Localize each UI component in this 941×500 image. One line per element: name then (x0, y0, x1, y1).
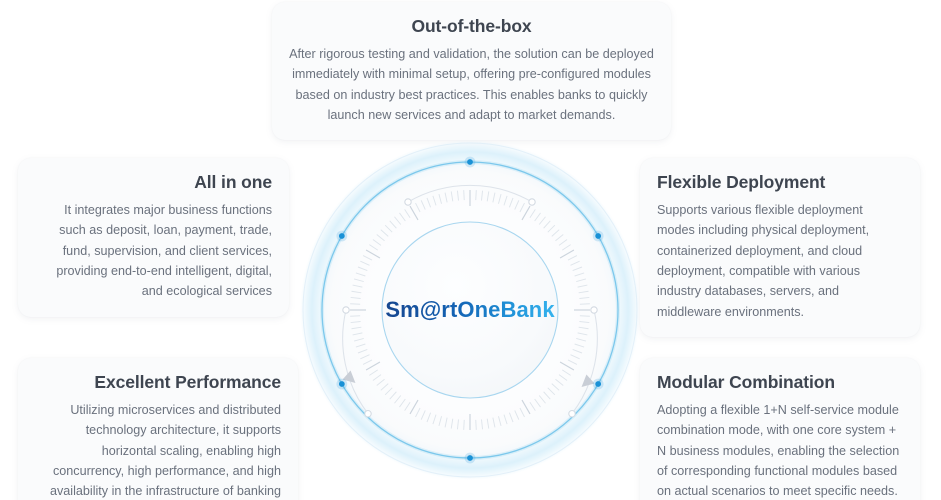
arc-endpoint (569, 411, 575, 417)
tick-minor (476, 420, 477, 430)
arc-endpoint (529, 199, 535, 205)
arc-endpoint (591, 307, 597, 313)
feature-title: Out-of-the-box (289, 15, 654, 38)
tick-minor (464, 190, 465, 200)
node-dot[interactable] (339, 381, 345, 387)
feature-title: Modular Combination (657, 371, 903, 394)
core-disc (382, 222, 558, 398)
tick-minor (476, 190, 477, 200)
tick-minor (580, 304, 590, 305)
arc-endpoint (405, 199, 411, 205)
tick-minor (464, 420, 465, 430)
arc-endpoint (365, 411, 371, 417)
tick-minor (350, 304, 360, 305)
tick-minor (580, 316, 590, 317)
hub-rings-svg (300, 140, 640, 480)
node-dot[interactable] (467, 455, 473, 461)
feature-description: Utilizing microservices and distributed … (35, 400, 281, 500)
feature-description: It integrates major business functions s… (35, 200, 272, 302)
feature-description: Adopting a flexible 1+N self-service mod… (657, 400, 903, 500)
tick-minor (350, 316, 360, 317)
node-dot[interactable] (339, 233, 345, 239)
feature-title: Flexible Deployment (657, 171, 903, 194)
node-dot[interactable] (595, 381, 601, 387)
feature-card-out-of-the-box[interactable]: Out-of-the-box After rigorous testing an… (272, 2, 671, 140)
arc-endpoint (343, 307, 349, 313)
feature-title: All in one (35, 171, 272, 194)
feature-description: Supports various flexible deployment mod… (657, 200, 903, 322)
node-dot[interactable] (595, 233, 601, 239)
feature-card-all-in-one[interactable]: All in one It integrates major business … (18, 158, 289, 317)
product-hub-diagram: Sm@rtOneBank (300, 140, 640, 480)
feature-title: Excellent Performance (35, 371, 281, 394)
feature-card-excellent-performance[interactable]: Excellent Performance Utilizing microser… (18, 358, 298, 500)
node-dot[interactable] (467, 159, 473, 165)
feature-overview-page: Out-of-the-box After rigorous testing an… (0, 0, 941, 500)
feature-card-flexible-deployment[interactable]: Flexible Deployment Supports various fle… (640, 158, 920, 337)
feature-description: After rigorous testing and validation, t… (289, 44, 654, 126)
feature-card-modular-combination[interactable]: Modular Combination Adopting a flexible … (640, 358, 920, 500)
